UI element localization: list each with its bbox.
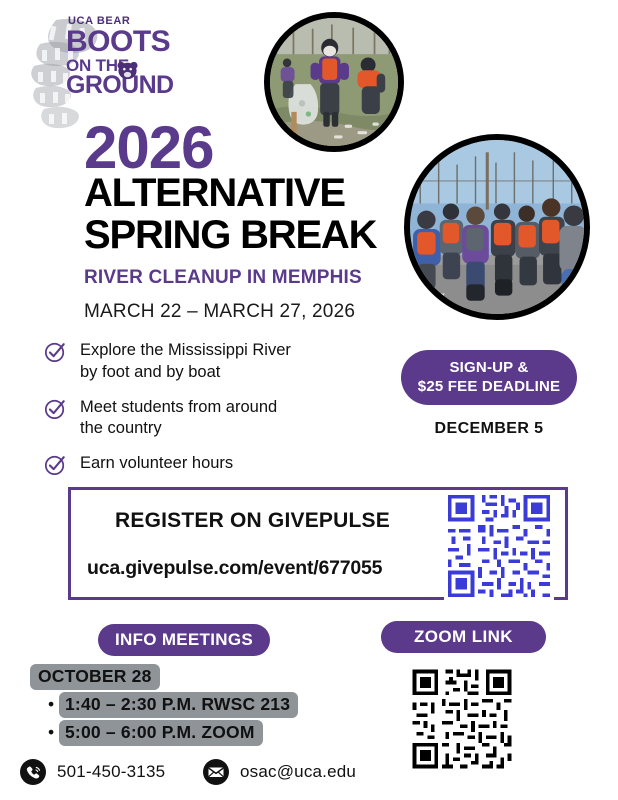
register-panel: REGISTER ON GIVEPULSE uca.givepulse.com/… — [68, 487, 568, 600]
email-address: osac@uca.edu — [240, 762, 356, 782]
info-meetings-date: OCTOBER 28 — [30, 664, 160, 690]
qr-code-zoom-icon[interactable] — [408, 666, 516, 772]
signup-badge-line-1: SIGN-UP & — [449, 359, 528, 378]
signup-deadline-date: DECEMBER 5 — [401, 420, 577, 438]
logo-line-boots: BOOTS — [66, 28, 196, 56]
list-item-text: Earn volunteer hours — [80, 453, 233, 475]
check-circle-icon — [44, 398, 66, 420]
phone-number: 501-450-3135 — [57, 762, 165, 782]
envelope-icon — [203, 759, 229, 785]
list-item-text: Explore the Mississippi River by foot an… — [80, 340, 291, 384]
qr-code-givepulse-icon[interactable] — [443, 491, 555, 601]
list-item-line-1: Earn volunteer hours — [80, 453, 233, 475]
zoom-link-badge: ZOOM LINK — [381, 621, 546, 653]
event-dates: MARCH 22 – MARCH 27, 2026 — [84, 301, 355, 323]
register-url[interactable]: uca.givepulse.com/event/677055 — [87, 557, 382, 580]
headline-line-2: SPRING BREAK — [84, 215, 376, 257]
info-meetings-item: 1:40 – 2:30 P.M. RWSC 213 — [59, 692, 298, 718]
signup-deadline-badge: SIGN-UP & $25 FEE DEADLINE — [401, 350, 577, 405]
check-circle-icon — [44, 341, 66, 363]
page-title-year: 2026 — [84, 118, 213, 178]
logo-wordmark: UCA BEAR BOOTS ON THE GROUND — [66, 16, 196, 97]
info-meetings-item: 5:00 – 6:00 P.M. ZOOM — [59, 720, 263, 746]
feature-list: Explore the Mississippi River by foot an… — [44, 340, 374, 489]
photo-group-in-life-vests — [404, 134, 590, 320]
check-circle-icon — [44, 454, 66, 476]
info-meetings-badge: INFO MEETINGS — [98, 624, 270, 656]
list-item-line-2: by foot and by boat — [80, 362, 291, 384]
list-item-line-2: the country — [80, 418, 277, 440]
contact-email[interactable]: osac@uca.edu — [203, 759, 356, 785]
page-title: ALTERNATIVE SPRING BREAK — [84, 173, 376, 256]
list-item: Meet students from around the country — [44, 397, 374, 441]
register-title: REGISTER ON GIVEPULSE — [115, 509, 390, 533]
poster-canvas: UCA BEAR BOOTS ON THE GROUND 2026 ALTERN… — [0, 0, 618, 800]
info-meetings-label: INFO MEETINGS — [115, 630, 253, 650]
bear-head-icon — [116, 60, 139, 80]
list-item-text: Meet students from around the country — [80, 397, 277, 441]
list-item-line-1: Meet students from around — [80, 397, 277, 419]
signup-badge-line-2: $25 FEE DEADLINE — [418, 378, 560, 397]
phone-icon — [20, 759, 46, 785]
event-subtitle: RIVER CLEANUP IN MEMPHIS — [84, 267, 362, 289]
list-item: Earn volunteer hours — [44, 453, 374, 476]
info-meetings-details: OCTOBER 28 • 1:40 – 2:30 P.M. RWSC 213 •… — [30, 664, 330, 746]
list-item: Explore the Mississippi River by foot an… — [44, 340, 374, 384]
zoom-link-label: ZOOM LINK — [414, 627, 513, 647]
headline-line-1: ALTERNATIVE — [84, 173, 376, 215]
photo-river-cleanup-volunteers — [264, 12, 404, 152]
list-item-line-1: Explore the Mississippi River — [80, 340, 291, 362]
contact-phone[interactable]: 501-450-3135 — [20, 759, 165, 785]
